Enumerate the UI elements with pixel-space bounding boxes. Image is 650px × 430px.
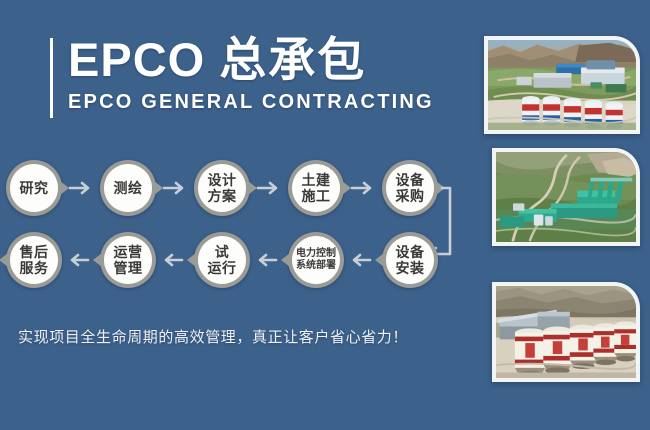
node-label-line2: 管理 [114,260,143,276]
arrow-left-icon [68,252,94,268]
node-label: 运营 管理 [104,236,152,284]
arrow-right-icon [162,180,188,196]
node-label: 售后 服务 [10,236,58,284]
node-label-line1: 试 [215,244,230,260]
node-label: 设计 方案 [198,164,246,212]
node-label-line1: 电力控制 [296,248,336,260]
title-accent-bar [50,38,53,118]
node-label-line2: 服务 [20,260,49,276]
node-label-line1: 运营 [114,244,143,260]
node-label-line2: 方案 [208,188,237,204]
node-label-line1: 土建 [302,172,331,188]
flow-row-top: 研究 测绘 设计 方案 [0,160,470,222]
flow-node-operations-management[interactable]: 运营 管理 [100,232,156,288]
flow-node-after-sales-service[interactable]: 售后 服务 [6,232,62,288]
arrow-left-icon [162,252,188,268]
photo-frame-3 [492,282,640,382]
flow-node-surveying[interactable]: 测绘 [100,160,156,216]
node-label: 设备 安装 [386,236,434,284]
header: EPCO总承包 EPCO GENERAL CONTRACTING [50,34,450,124]
flow-node-trial-operation[interactable]: 试 运行 [194,232,250,288]
page-subtitle: EPCO GENERAL CONTRACTING [68,91,434,114]
title-latin: EPCO [68,33,205,86]
flow-node-research[interactable]: 研究 [6,160,62,216]
arrow-left-icon [350,252,376,268]
flow-node-civil-construction[interactable]: 土建 施工 [288,160,344,216]
photo-frame-1 [484,36,640,134]
row-of-storage-silos-image [496,286,636,378]
node-nub [375,253,384,267]
tagline: 实现项目全生命周期的高效管理，真正让客户省心省力！ [18,326,408,347]
arrow-right-icon [350,180,376,196]
node-nub [0,253,8,267]
promo-banner: EPCO总承包 EPCO GENERAL CONTRACTING 研究 测绘 [0,0,650,430]
node-label: 土建 施工 [292,164,340,212]
node-label: 试 运行 [198,236,246,284]
photo-frame-2 [492,148,640,246]
aerial-plant-with-silos-image [488,40,636,130]
node-label-line2: 运行 [208,260,237,276]
flow-node-power-control-system-deployment[interactable]: 电力控制 系统部署 [288,232,344,288]
node-label: 电力控制 系统部署 [292,236,340,284]
arrow-right-icon [256,180,282,196]
flow-node-design-plan[interactable]: 设计 方案 [194,160,250,216]
node-label-line2: 施工 [302,188,331,204]
arrow-left-icon [256,252,282,268]
flow-node-equipment-installation[interactable]: 设备 安装 [382,232,438,288]
node-label-line2: 安装 [396,260,425,276]
node-nub [187,253,196,267]
node-label: 测绘 [104,164,152,212]
node-nub [281,253,290,267]
node-label-line1: 设计 [208,172,237,188]
flow-row-bottom: 售后 服务 运营 管理 试 运行 [0,232,470,294]
node-label-line1: 测绘 [114,180,143,196]
node-label-line1: 设备 [396,244,425,260]
node-label-line2: 系统部署 [296,260,336,272]
page-title: EPCO总承包 [68,30,366,90]
node-label: 研究 [10,164,58,212]
arrow-right-icon [68,180,94,196]
node-nub [93,253,102,267]
aerial-green-processing-site-image [496,152,636,242]
title-cjk: 总承包 [219,33,366,86]
node-label-line1: 售后 [20,244,49,260]
node-label-line1: 研究 [20,180,49,196]
